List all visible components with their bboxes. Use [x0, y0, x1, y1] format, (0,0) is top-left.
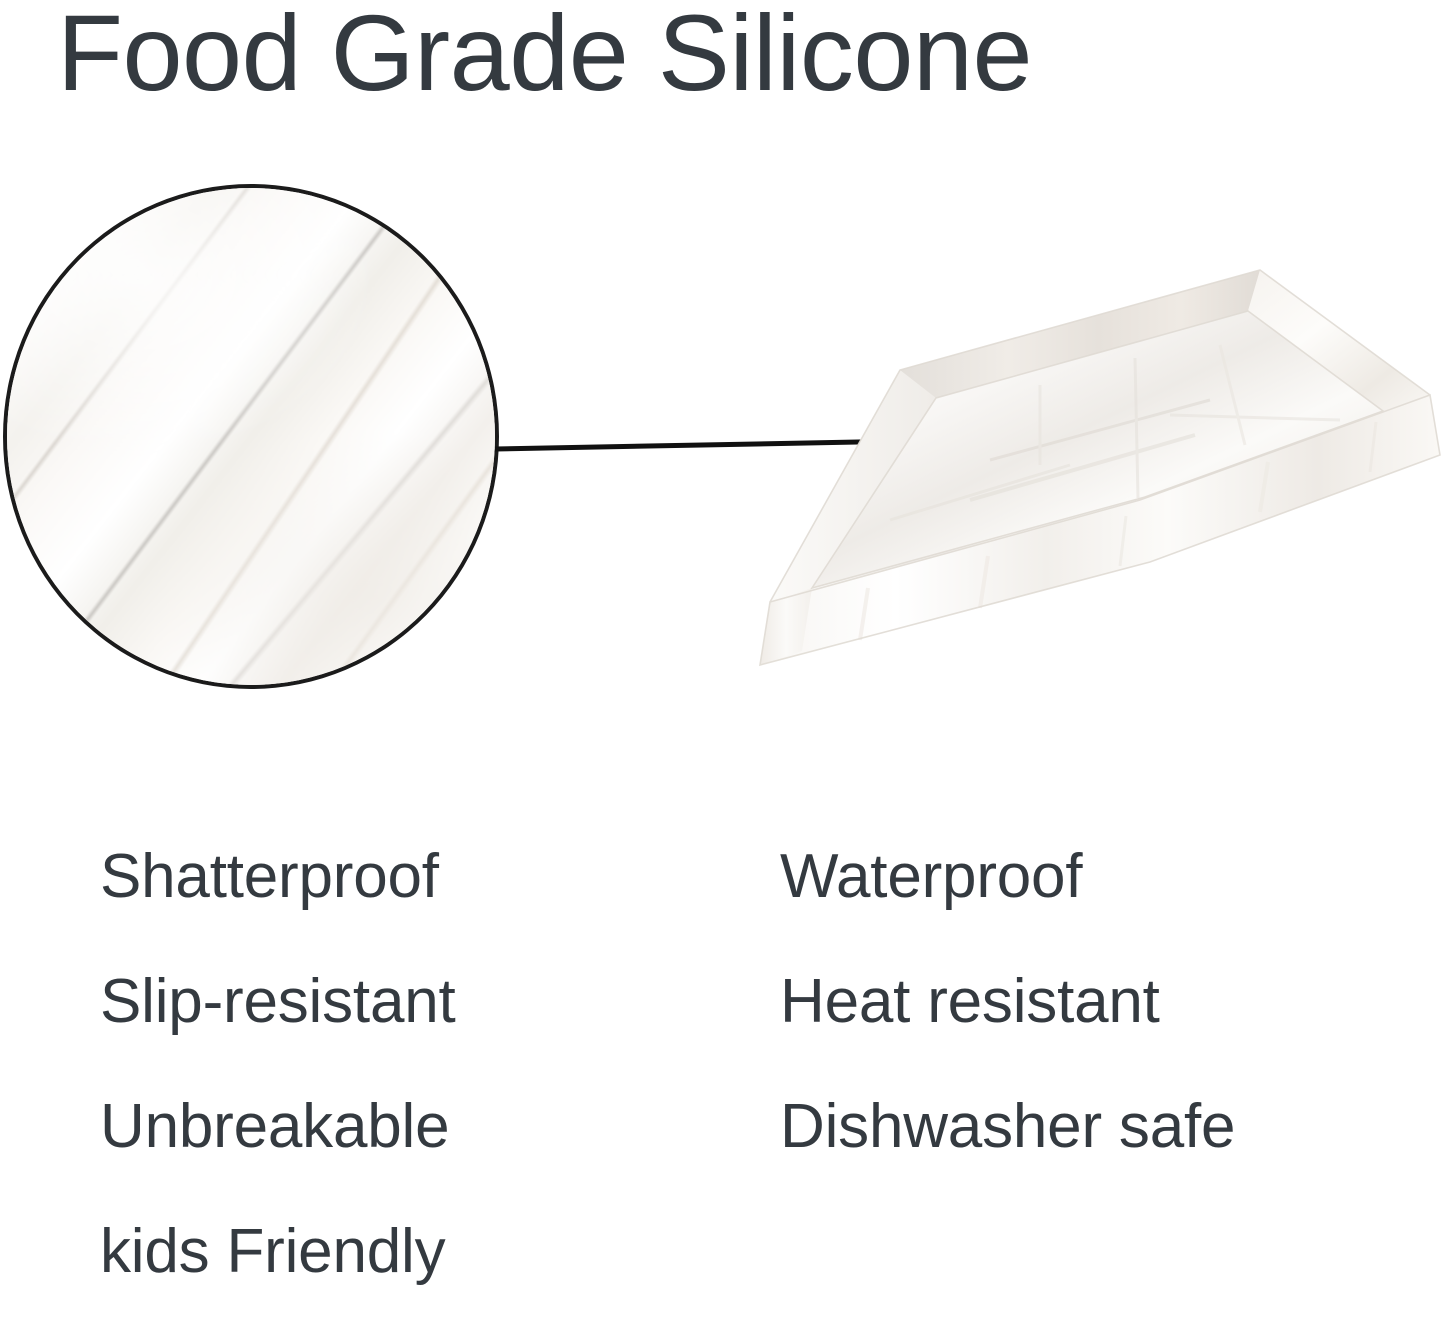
- feature-item-slip-resistant: Slip-resistant: [100, 971, 456, 1033]
- feature-item-shatterproof: Shatterproof: [100, 846, 439, 908]
- feature-item-kids-friendly: kids Friendly: [100, 1221, 445, 1283]
- feature-item-dishwasher-safe: Dishwasher safe: [780, 1096, 1235, 1158]
- feature-item-heat-resistant: Heat resistant: [780, 971, 1160, 1033]
- feature-list: Shatterproof Slip-resistant Unbreakable …: [0, 0, 1445, 1319]
- feature-item-unbreakable: Unbreakable: [100, 1096, 449, 1158]
- infographic-canvas: Food Grade Silicone: [0, 0, 1445, 1319]
- feature-item-waterproof: Waterproof: [780, 846, 1082, 908]
